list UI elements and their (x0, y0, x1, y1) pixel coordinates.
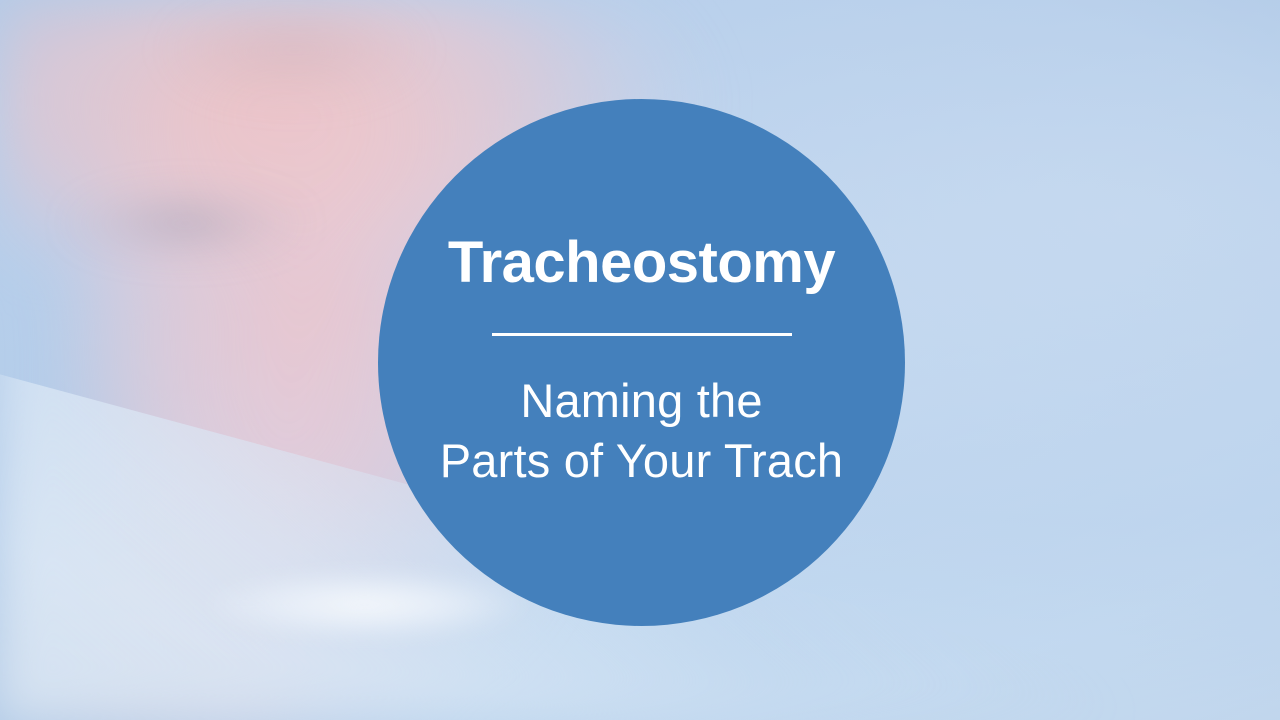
subtitle-line-1: Naming the (440, 371, 844, 431)
title-circle: Tracheostomy Naming the Parts of Your Tr… (378, 99, 905, 626)
page-subtitle: Naming the Parts of Your Trach (440, 371, 844, 491)
subtitle-line-2: Parts of Your Trach (440, 431, 844, 491)
page-title: Tracheostomy (448, 234, 835, 292)
title-card: Tracheostomy Naming the Parts of Your Tr… (0, 0, 1280, 720)
title-divider (492, 333, 792, 336)
